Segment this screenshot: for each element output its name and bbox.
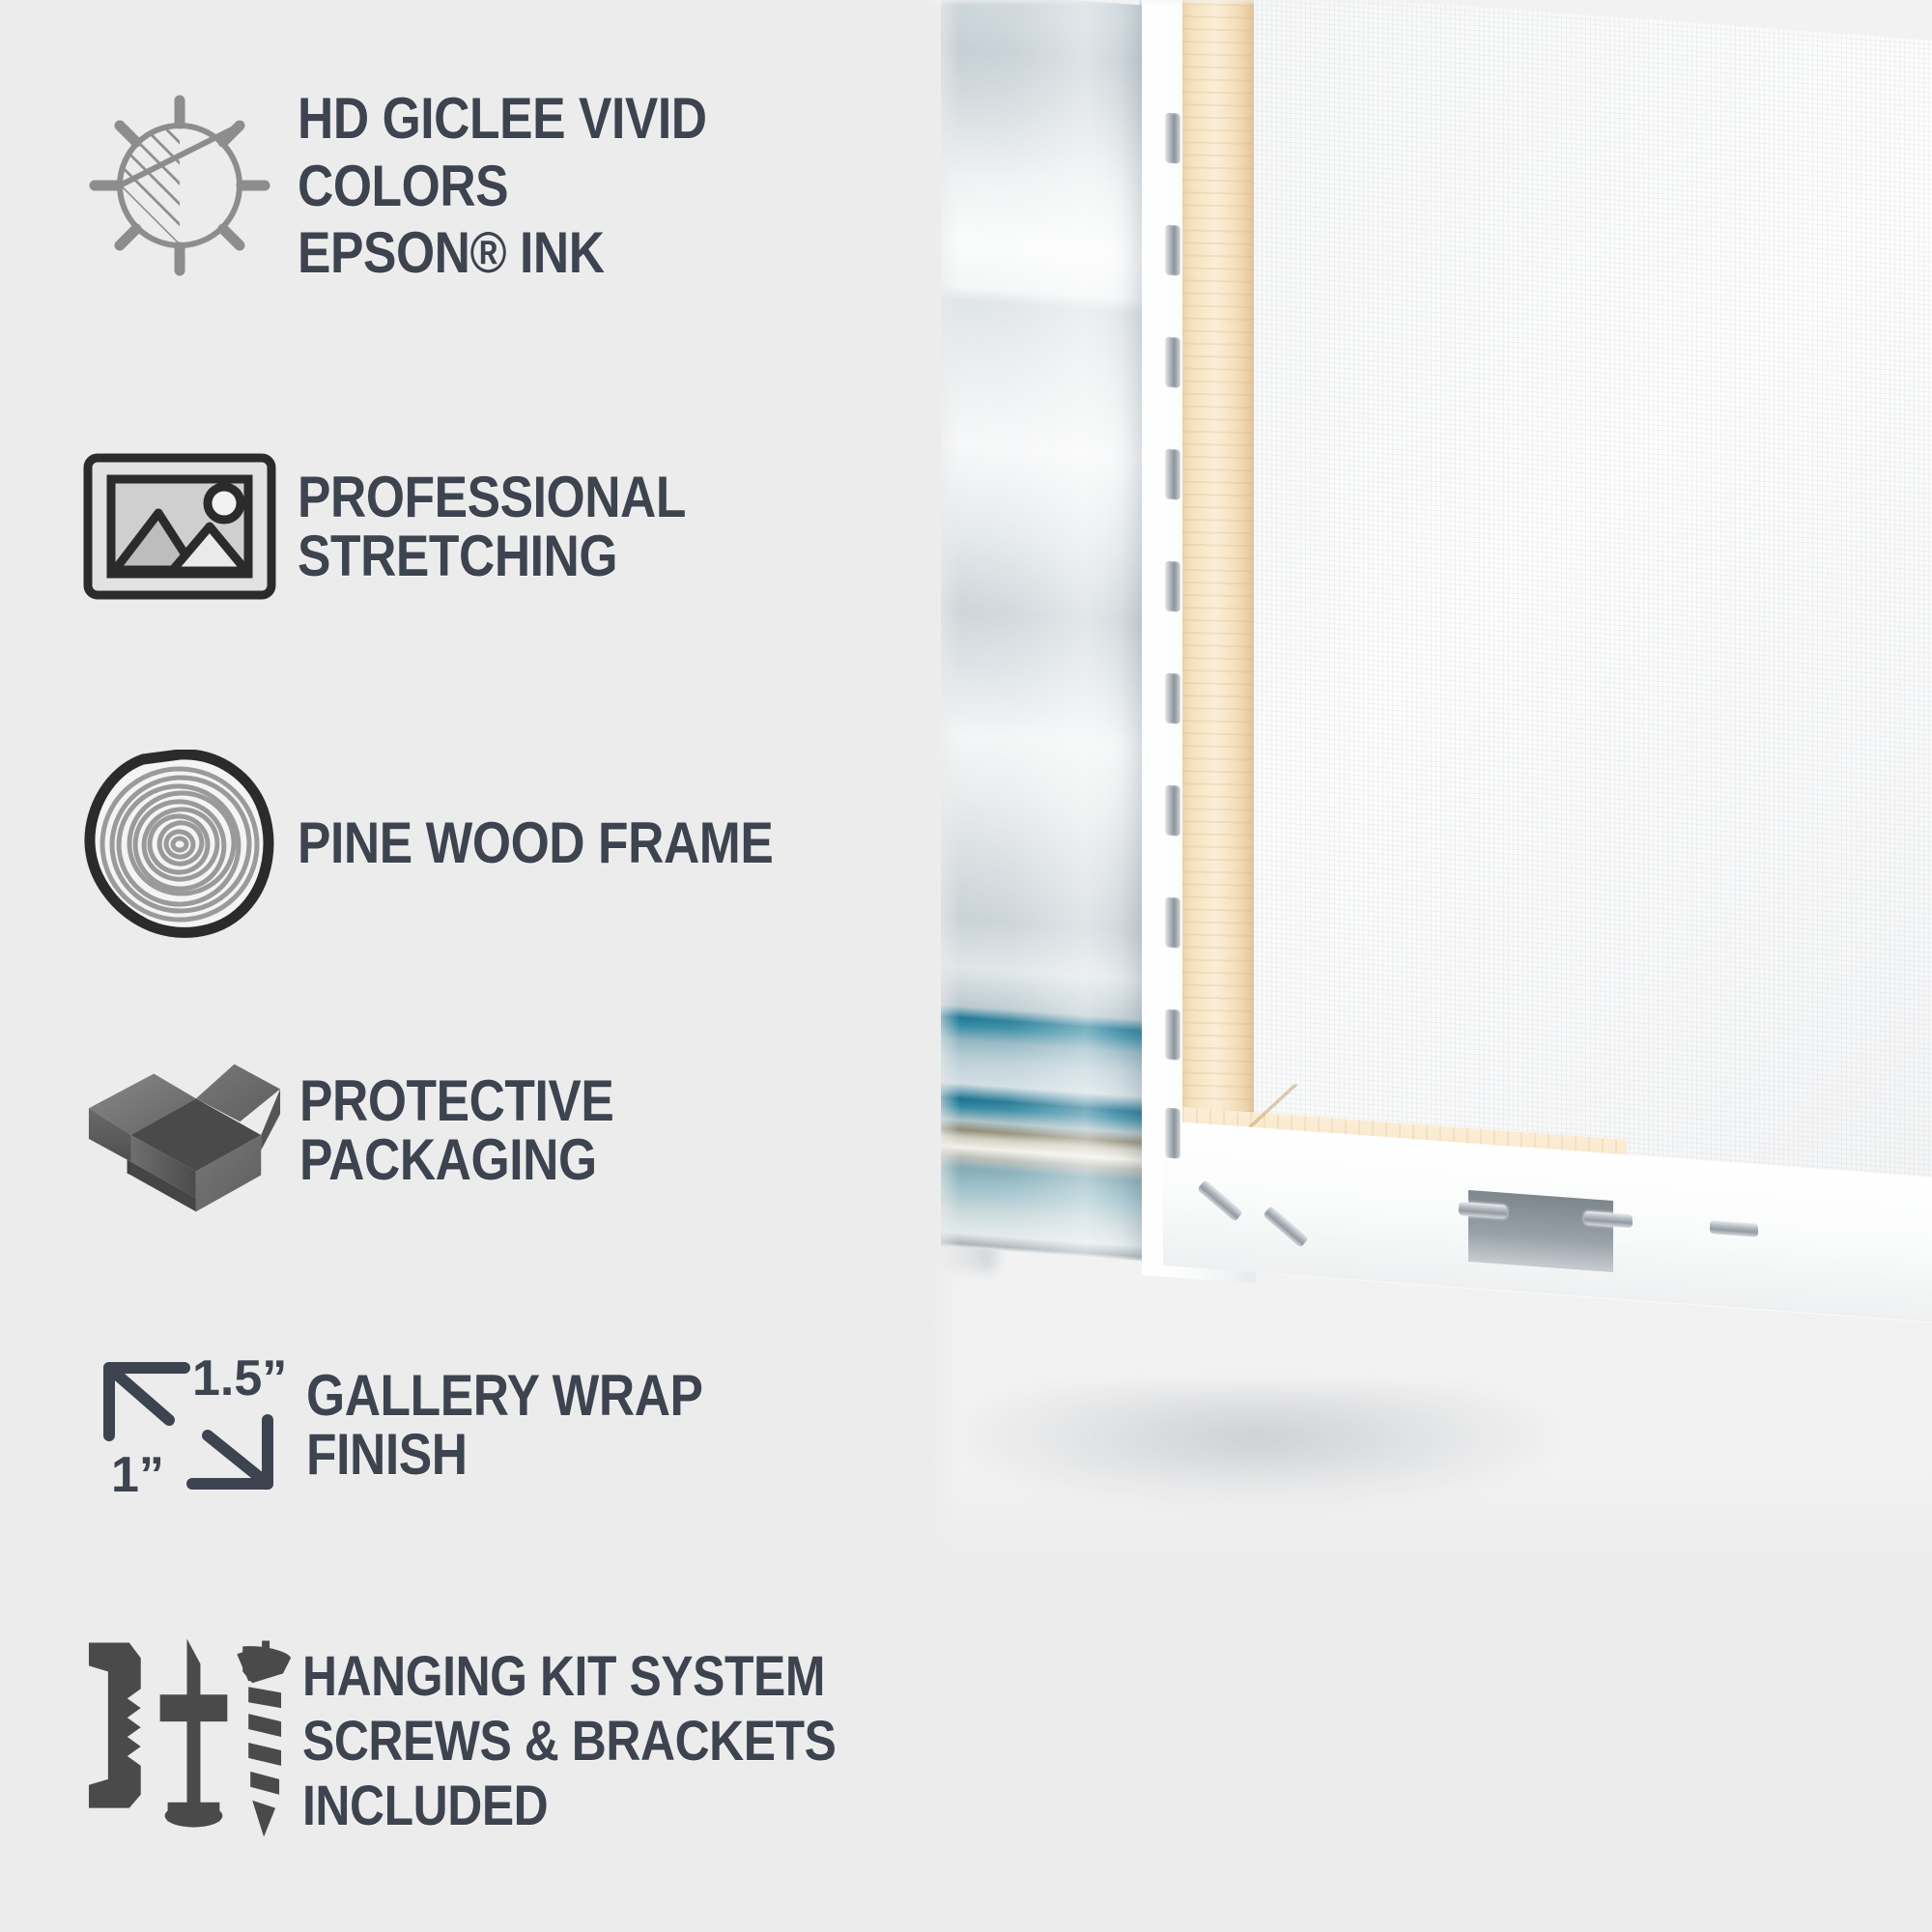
picture-frame-icon bbox=[83, 454, 276, 599]
depth-top-label: 1.5” bbox=[192, 1350, 285, 1406]
depth-bottom-label: 1” bbox=[111, 1447, 164, 1503]
photo-top-fade bbox=[927, 0, 1932, 6]
feature-list: HD GICLEE VIVID COLORS EPSON® INK PROFES… bbox=[0, 0, 966, 1932]
feature-label: PROFESSIONAL STRETCHING bbox=[298, 468, 872, 585]
wood-rings-icon bbox=[83, 752, 276, 935]
feature-gallery-wrap-finish: 1.5” 1” GALLERY WRAP FINISH bbox=[92, 1348, 966, 1502]
printed-canvas-side-edge bbox=[941, 0, 1142, 1261]
sun-icon bbox=[83, 89, 276, 282]
side-sheen bbox=[941, 0, 1142, 1261]
feature-hanging-kit: HANGING KIT SYSTEM SCREWS & BRACKETS INC… bbox=[83, 1633, 966, 1850]
feature-label: HD GICLEE VIVID COLORS EPSON® INK bbox=[298, 85, 872, 287]
feature-label: PINE WOOD FRAME bbox=[298, 813, 773, 872]
feature-hd-giclee: HD GICLEE VIVID COLORS EPSON® INK bbox=[83, 85, 966, 287]
canvas-back-fabric bbox=[1252, 0, 1932, 1180]
feature-protective-packaging: PROTECTIVE PACKAGING bbox=[83, 1038, 966, 1222]
feature-label: PROTECTIVE PACKAGING bbox=[299, 1071, 872, 1189]
feature-label: HANGING KIT SYSTEM SCREWS & BRACKETS INC… bbox=[302, 1644, 873, 1839]
infographic-root: HD GICLEE VIVID COLORS EPSON® INK PROFES… bbox=[0, 0, 1932, 1932]
feature-label: GALLERY WRAP FINISH bbox=[306, 1366, 873, 1484]
feature-professional-stretching: PROFESSIONAL STRETCHING bbox=[83, 454, 966, 599]
feature-pine-wood-frame: PINE WOOD FRAME bbox=[83, 752, 851, 935]
hanging-hardware-icon bbox=[83, 1633, 291, 1850]
dimension-arrows-icon: 1.5” 1” bbox=[92, 1348, 285, 1502]
open-box-icon bbox=[83, 1038, 286, 1222]
staple-column bbox=[1159, 0, 1204, 1284]
photo-bottom-fade bbox=[927, 1464, 1932, 1580]
product-photo bbox=[927, 0, 1932, 1580]
